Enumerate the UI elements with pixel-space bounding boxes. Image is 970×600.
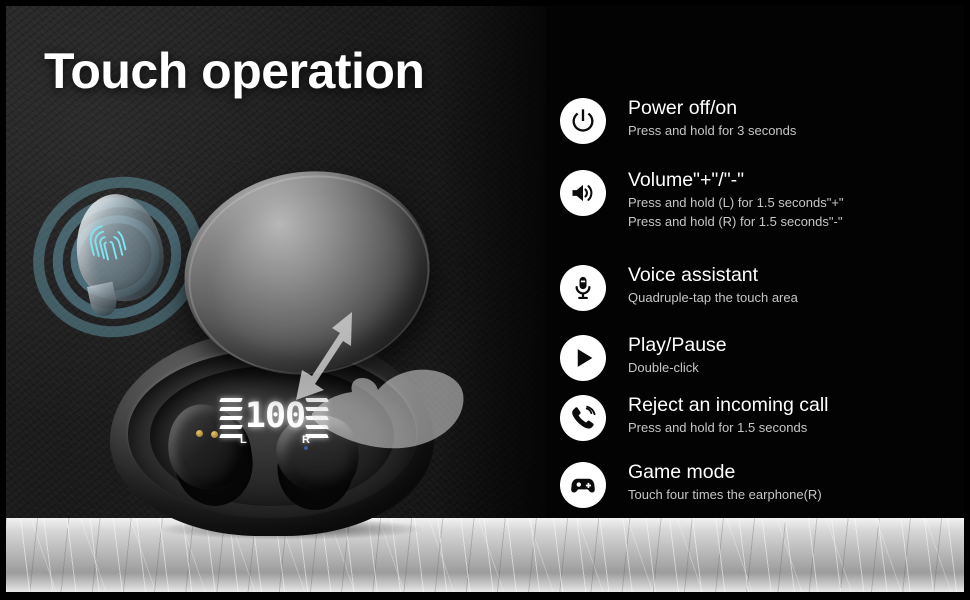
feature-text-block: Game modeTouch four times the earphone(R… [628,462,822,503]
feature-item-gamepad[interactable]: Game modeTouch four times the earphone(R… [560,462,822,508]
feature-item-power[interactable]: Power off/onPress and hold for 3 seconds [560,98,796,144]
feature-description: Press and hold for 1.5 seconds [628,419,829,437]
power-icon [560,98,606,144]
charging-pin-2 [211,431,218,438]
feature-item-volume-speaker[interactable]: Volume"+"/"-"Press and hold (L) for 1.5 … [560,170,844,231]
battery-bars-left [220,398,242,438]
feature-text-block: Volume"+"/"-"Press and hold (L) for 1.5 … [628,170,844,231]
feature-item-phone-reject[interactable]: Reject an incoming callPress and hold fo… [560,395,829,441]
feature-title: Reject an incoming call [628,395,829,417]
play-icon [560,335,606,381]
feature-text-block: Voice assistantQuadruple-tap the touch a… [628,265,798,306]
gamepad-icon [560,462,606,508]
feature-title: Power off/on [628,98,796,120]
phone-reject-icon [560,395,606,441]
feature-title: Volume"+"/"-" [628,170,844,192]
scene: 100 L R Touch operation Power off/onPres… [6,6,964,594]
feature-title: Voice assistant [628,265,798,287]
feature-description: Press and hold (R) for 1.5 seconds"-" [628,213,844,231]
led-label-left: L [240,434,247,446]
feature-text-block: Power off/onPress and hold for 3 seconds [628,98,796,139]
infographic-canvas: 100 L R Touch operation Power off/onPres… [0,0,970,600]
feature-description: Touch four times the earphone(R) [628,486,822,504]
hand-gesture-silhouette [306,336,466,456]
feature-item-microphone[interactable]: Voice assistantQuadruple-tap the touch a… [560,265,798,311]
led-channel-labels: L R [240,434,310,446]
feature-text-block: Play/PauseDouble-click [628,335,727,376]
feature-text-block: Reject an incoming callPress and hold fo… [628,395,829,436]
charging-pin-1 [196,430,203,437]
feature-description: Press and hold for 3 seconds [628,122,796,140]
page-title: Touch operation [44,46,424,96]
feature-description: Double-click [628,359,727,377]
feature-description: Press and hold (L) for 1.5 seconds"+" [628,194,844,212]
feature-title: Play/Pause [628,335,727,357]
feature-item-play[interactable]: Play/PauseDouble-click [560,335,727,381]
volume-speaker-icon [560,170,606,216]
microphone-icon [560,265,606,311]
feature-title: Game mode [628,462,822,484]
bottom-black-band [6,592,964,594]
feature-description: Quadruple-tap the touch area [628,289,798,307]
